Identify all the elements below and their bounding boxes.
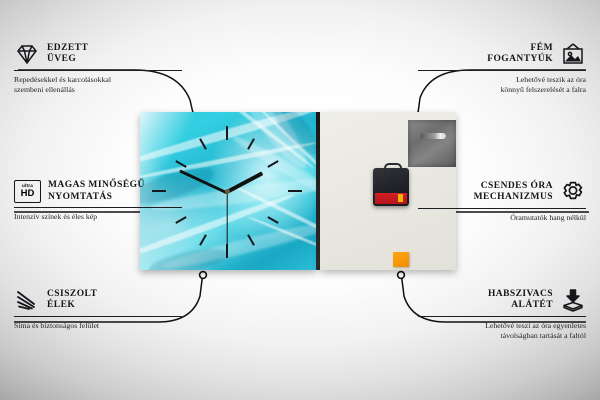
feature-desc-line2: szembeni ellenállás (14, 85, 75, 94)
product-infographic: EDZETT ÜVEG Repedésekkel és karcolásokka… (0, 0, 600, 400)
feature-desc-line1: Lehetővé teszi az óra egyenletes (485, 321, 586, 330)
feature-desc-line1: Lehetővé teszik az óra (516, 75, 586, 84)
metal-hanger-part (408, 120, 456, 167)
feature-divider (14, 70, 182, 71)
clock-second-hand (226, 192, 227, 248)
clock-tick-4 (267, 216, 278, 224)
polished-edges-icon (14, 288, 40, 312)
clock-mechanism-part (373, 168, 409, 206)
clock-tick-12 (226, 126, 228, 140)
feature-desc-line1: Sima és biztonságos felület (14, 321, 99, 330)
feature-silent-clock-mechanism: CSENDES ÓRA MECHANIZMUS Óramutatók hang … (418, 180, 586, 223)
feature-desc-line1: Intenzív színek és éles kép (14, 212, 97, 221)
feature-desc-line1: Repedésekkel és karcolásokkal (14, 75, 111, 84)
diamond-icon (14, 42, 40, 66)
feature-title-line1: CSISZOLT (47, 289, 97, 299)
feature-title-line2: ALÁTÉT (511, 300, 553, 310)
clock-tick-3 (288, 190, 302, 192)
feature-title-line2: ÜVEG (47, 54, 76, 64)
feature-divider (418, 316, 586, 317)
clock-center-cap (225, 189, 230, 194)
feature-title-line1: FÉM (531, 43, 553, 53)
feature-desc-line2: távolságban tartását a faltól (500, 331, 586, 340)
feature-desc-line2: könnyű felszerelését a falra (500, 85, 586, 94)
feature-title-line2: FOGANTYÚK (487, 54, 553, 64)
ultra-hd-icon: ultra HD (14, 180, 41, 203)
feature-divider (418, 208, 586, 209)
ultra-hd-main-text: HD (21, 189, 35, 199)
feature-desc-line1: Óramutatók hang nélkül (510, 213, 586, 222)
press-pad-icon (560, 288, 586, 312)
gear-icon (560, 180, 586, 204)
feature-divider (14, 207, 182, 208)
feature-metal-handles: FÉM FOGANTYÚK Lehetővé teszik az óra kön… (418, 42, 586, 95)
feature-tempered-glass: EDZETT ÜVEG Repedésekkel és karcolásokka… (14, 42, 182, 95)
framed-picture-hanging-icon (560, 42, 586, 66)
feature-high-quality-print: ultra HD MAGAS MINŐSÉGŰ NYOMTATÁS Intenz… (14, 180, 182, 222)
leader-dot-foam-pad (398, 272, 405, 279)
feature-title-line1: CSENDES ÓRA (481, 181, 553, 191)
mechanism-hanging-loop (384, 163, 402, 174)
leader-dot-polished-edges (200, 272, 207, 279)
feature-title-line1: EDZETT (47, 43, 88, 53)
foam-pad-part (393, 252, 409, 267)
feature-divider (418, 70, 586, 71)
mechanism-label (375, 193, 407, 204)
feature-title-line1: HABSZIVACS (488, 289, 553, 299)
feature-title-line2: MECHANIZMUS (474, 192, 553, 202)
feature-title-line2: ÉLEK (47, 300, 75, 310)
hanger-slot (420, 133, 446, 139)
feature-polished-edges: CSISZOLT ÉLEK Sima és biztonságos felüle… (14, 288, 182, 331)
feature-divider (14, 316, 182, 317)
feature-title-line1: MAGAS MINŐSÉGŰ (48, 180, 145, 190)
feature-title-line2: NYOMTATÁS (48, 192, 112, 202)
clock-tick-7 (199, 234, 207, 245)
feature-foam-pad: HABSZIVACS ALÁTÉT Lehetővé teszi az óra … (418, 288, 586, 341)
mechanism-label-mark (398, 194, 403, 202)
